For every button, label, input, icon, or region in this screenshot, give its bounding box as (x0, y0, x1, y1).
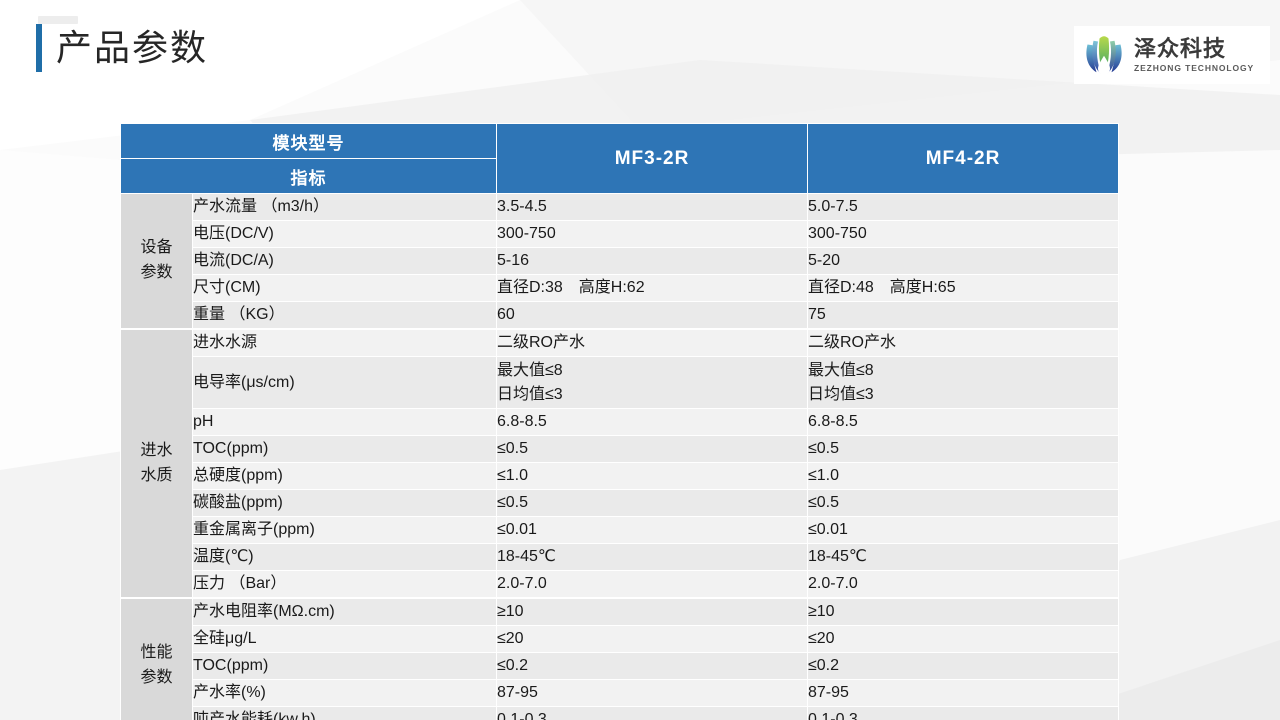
page-title: 产品参数 (56, 24, 208, 72)
row-item-label: 总硬度(ppm) (193, 463, 497, 490)
table-row: 重量 （KG） 60 75 (121, 302, 1119, 330)
row-item-label: pH (193, 409, 497, 436)
table-row: 全硅μg/L ≤20 ≤20 (121, 626, 1119, 653)
table-row: 电导率(μs/cm) 最大值≤8 日均值≤3 最大值≤8 日均值≤3 (121, 357, 1119, 409)
row-item-label: TOC(ppm) (193, 436, 497, 463)
category-line-1: 进水 (140, 442, 172, 459)
table-row: TOC(ppm) ≤0.5 ≤0.5 (121, 436, 1119, 463)
row-value-mf3: ≤20 (497, 626, 808, 653)
category-line-2: 参数 (140, 669, 172, 686)
value-line-1: 最大值≤8 (808, 359, 1118, 382)
table-row: 产水率(%) 87-95 87-95 (121, 680, 1119, 707)
row-item-label: 产水流量 （m3/h） (193, 194, 497, 221)
table-head: 模块型号 MF3-2R MF4-2R 指标 (121, 124, 1119, 194)
value-line-1: 最大值≤8 (497, 359, 807, 382)
row-item-label: 重量 （KG） (193, 302, 497, 330)
row-item-label: 全硅μg/L (193, 626, 497, 653)
slide-canvas: 产品参数 (0, 0, 1280, 720)
header-column-mf3: MF3-2R (497, 124, 808, 194)
value-line-2: 日均值≤3 (497, 383, 807, 406)
row-value-mf4: ≤0.5 (808, 490, 1119, 517)
table-row: 总硬度(ppm) ≤1.0 ≤1.0 (121, 463, 1119, 490)
table-row: pH 6.8-8.5 6.8-8.5 (121, 409, 1119, 436)
table-row: 温度(℃) 18-45℃ 18-45℃ (121, 544, 1119, 571)
row-value-mf4: 18-45℃ (808, 544, 1119, 571)
row-value-mf3: 2.0-7.0 (497, 571, 808, 599)
header-model-label: 模块型号 (121, 124, 497, 159)
row-value-mf3: 二级RO产水 (497, 329, 808, 357)
row-item-label: 电压(DC/V) (193, 221, 497, 248)
table-row: 设备 参数 产水流量 （m3/h） 3.5-4.5 5.0-7.5 (121, 194, 1119, 221)
row-value-mf4: ≤20 (808, 626, 1119, 653)
row-value-mf4: 5.0-7.5 (808, 194, 1119, 221)
row-value-mf4: ≥10 (808, 598, 1119, 626)
category-line-1: 性能 (140, 644, 172, 661)
logo-name-en: ZEZHONG TECHNOLOGY (1134, 64, 1254, 73)
row-value-mf3: 最大值≤8 日均值≤3 (497, 357, 808, 409)
value-line-2: 日均值≤3 (808, 383, 1118, 406)
header-index-label: 指标 (121, 159, 497, 194)
header-row-model: 模块型号 MF3-2R MF4-2R (121, 124, 1119, 159)
category-performance: 性能 参数 (121, 598, 193, 720)
row-item-label: 碳酸盐(ppm) (193, 490, 497, 517)
table-row: 性能 参数 产水电阻率(MΩ.cm) ≥10 ≥10 (121, 598, 1119, 626)
table-row: 压力 （Bar） 2.0-7.0 2.0-7.0 (121, 571, 1119, 599)
row-value-mf3: ≤0.5 (497, 490, 808, 517)
row-value-mf4: ≤0.2 (808, 653, 1119, 680)
row-value-mf3: 直径D:38 高度H:62 (497, 275, 808, 302)
row-value-mf4: 87-95 (808, 680, 1119, 707)
table-row: 电压(DC/V) 300-750 300-750 (121, 221, 1119, 248)
category-equipment: 设备 参数 (121, 194, 193, 330)
row-value-mf3: ≥10 (497, 598, 808, 626)
row-item-label: 尺寸(CM) (193, 275, 497, 302)
header-column-mf4: MF4-2R (808, 124, 1119, 194)
logo-name-cn: 泽众科技 (1134, 38, 1254, 60)
title-ghost-shape (38, 16, 78, 24)
row-value-mf3: 87-95 (497, 680, 808, 707)
company-logo: 泽众科技 ZEZHONG TECHNOLOGY (1074, 26, 1270, 84)
row-value-mf3: 60 (497, 302, 808, 330)
row-value-mf3: ≤0.01 (497, 517, 808, 544)
table-row: TOC(ppm) ≤0.2 ≤0.2 (121, 653, 1119, 680)
title-accent-bar (36, 24, 42, 72)
table-row: 尺寸(CM) 直径D:38 高度H:62 直径D:48 高度H:65 (121, 275, 1119, 302)
row-value-mf4: ≤0.5 (808, 436, 1119, 463)
category-line-2: 参数 (140, 264, 172, 281)
row-item-label: 电导率(μs/cm) (193, 357, 497, 409)
row-item-label: 吨产水能耗(kw.h) (193, 707, 497, 720)
row-value-mf4: 75 (808, 302, 1119, 330)
row-value-mf4: 2.0-7.0 (808, 571, 1119, 599)
row-value-mf4: ≤1.0 (808, 463, 1119, 490)
page-header: 产品参数 (0, 18, 1280, 94)
row-item-label: TOC(ppm) (193, 653, 497, 680)
table-row: 重金属离子(ppm) ≤0.01 ≤0.01 (121, 517, 1119, 544)
row-value-mf3: ≤0.2 (497, 653, 808, 680)
category-line-1: 设备 (140, 239, 172, 256)
row-value-mf3: 3.5-4.5 (497, 194, 808, 221)
row-value-mf3: 300-750 (497, 221, 808, 248)
row-value-mf3: 6.8-8.5 (497, 409, 808, 436)
row-value-mf3: 0.1-0.3 (497, 707, 808, 720)
row-value-mf4: 0.1-0.3 (808, 707, 1119, 720)
leaf-droplet-logo-icon (1080, 31, 1128, 79)
row-item-label: 压力 （Bar） (193, 571, 497, 599)
row-value-mf3: ≤0.5 (497, 436, 808, 463)
row-item-label: 温度(℃) (193, 544, 497, 571)
row-value-mf4: 6.8-8.5 (808, 409, 1119, 436)
row-value-mf4: 二级RO产水 (808, 329, 1119, 357)
row-value-mf4: 300-750 (808, 221, 1119, 248)
row-value-mf4: ≤0.01 (808, 517, 1119, 544)
product-spec-table: 模块型号 MF3-2R MF4-2R 指标 设备 参数 产水流量 （m3/h） … (120, 123, 1119, 720)
row-value-mf4: 5-20 (808, 248, 1119, 275)
table-row: 吨产水能耗(kw.h) 0.1-0.3 0.1-0.3 (121, 707, 1119, 720)
row-value-mf3: 18-45℃ (497, 544, 808, 571)
table-row: 碳酸盐(ppm) ≤0.5 ≤0.5 (121, 490, 1119, 517)
table-row: 电流(DC/A) 5-16 5-20 (121, 248, 1119, 275)
row-item-label: 产水电阻率(MΩ.cm) (193, 598, 497, 626)
row-value-mf4: 直径D:48 高度H:65 (808, 275, 1119, 302)
category-line-2: 水质 (140, 467, 172, 484)
row-item-label: 进水水源 (193, 329, 497, 357)
row-value-mf3: ≤1.0 (497, 463, 808, 490)
table-body: 设备 参数 产水流量 （m3/h） 3.5-4.5 5.0-7.5 电压(DC/… (121, 194, 1119, 720)
table-row: 进水 水质 进水水源 二级RO产水 二级RO产水 (121, 329, 1119, 357)
row-value-mf3: 5-16 (497, 248, 808, 275)
row-value-mf4: 最大值≤8 日均值≤3 (808, 357, 1119, 409)
category-feedwater: 进水 水质 (121, 329, 193, 598)
row-item-label: 产水率(%) (193, 680, 497, 707)
row-item-label: 电流(DC/A) (193, 248, 497, 275)
page-title-group: 产品参数 (36, 24, 208, 72)
row-item-label: 重金属离子(ppm) (193, 517, 497, 544)
logo-text-group: 泽众科技 ZEZHONG TECHNOLOGY (1134, 38, 1254, 73)
